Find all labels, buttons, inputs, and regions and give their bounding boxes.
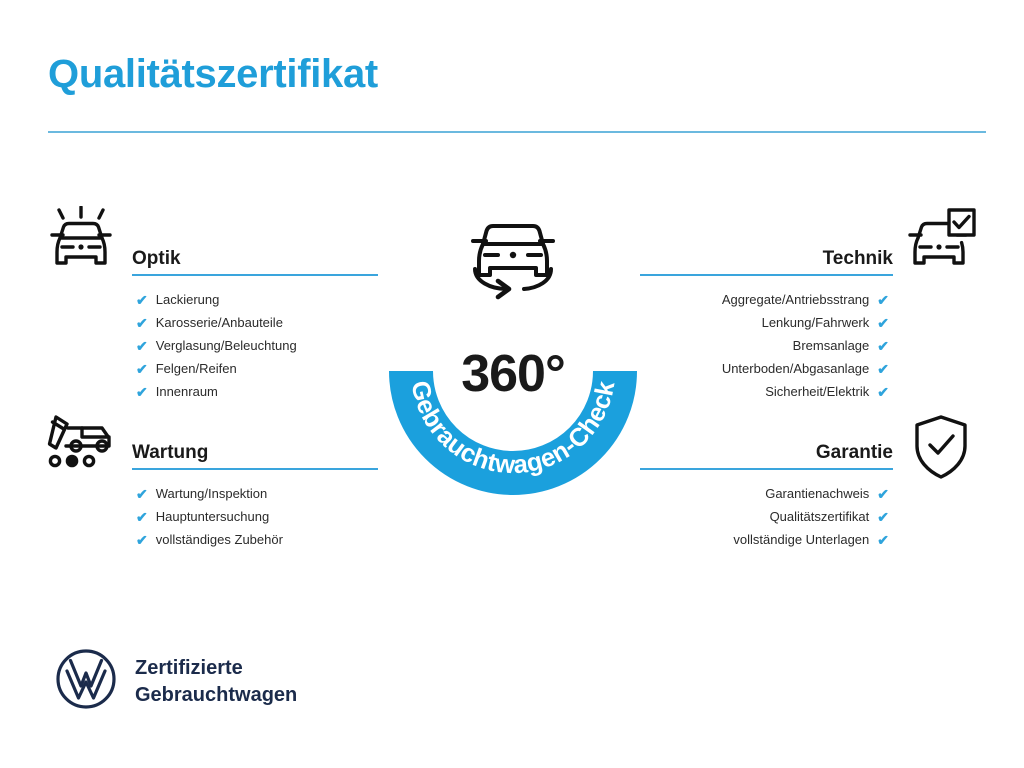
check-icon: ✔ <box>877 487 889 501</box>
list-item-label: Aggregate/Antriebsstrang <box>722 288 869 311</box>
list-item-label: Wartung/Inspektion <box>156 482 268 505</box>
brand-line-2: Gebrauchtwagen <box>135 682 297 709</box>
list-item: ✔Felgen/Reifen <box>132 357 378 380</box>
list-item: ✔Verglasung/Beleuchtung <box>132 334 378 357</box>
list-item: Unterboden/Abgasanlage✔ <box>640 357 893 380</box>
checklist-optik: ✔Lackierung ✔Karosserie/Anbauteile ✔Verg… <box>132 288 378 403</box>
list-item-label: Hauptuntersuchung <box>156 505 269 528</box>
check-icon: ✔ <box>877 316 889 330</box>
check-icon: ✔ <box>136 316 148 330</box>
section-technik: Technik Aggregate/Antriebsstrang✔ Lenkun… <box>640 238 893 403</box>
list-item: Garantienachweis✔ <box>640 482 893 505</box>
section-title-garantie: Garantie <box>816 442 893 464</box>
list-item: ✔Karosserie/Anbauteile <box>132 311 378 334</box>
checklist-wartung: ✔Wartung/Inspektion ✔Hauptuntersuchung ✔… <box>132 482 378 551</box>
list-item: Bremsanlage✔ <box>640 334 893 357</box>
list-item-label: vollständiges Zubehör <box>156 528 283 551</box>
list-item: Sicherheit/Elektrik✔ <box>640 380 893 403</box>
title-divider <box>48 131 986 133</box>
list-item-label: Innenraum <box>156 380 218 403</box>
list-item: ✔Innenraum <box>132 380 378 403</box>
section-title-technik: Technik <box>823 248 893 270</box>
list-item: ✔Wartung/Inspektion <box>132 482 378 505</box>
car-shine-icon <box>46 206 116 277</box>
list-item-label: vollständige Unterlagen <box>733 528 869 551</box>
check-icon: ✔ <box>877 533 889 547</box>
section-underline-wartung <box>132 468 378 470</box>
check-icon: ✔ <box>136 487 148 501</box>
list-item: vollständige Unterlagen✔ <box>640 528 893 551</box>
list-item-label: Lackierung <box>156 288 220 311</box>
certificate-page: Qualitätszertifikat <box>0 0 1024 768</box>
section-wartung: Wartung ✔Wartung/Inspektion ✔Hauptunters… <box>132 432 378 551</box>
list-item-label: Karosserie/Anbauteile <box>156 311 283 334</box>
list-item: Qualitätszertifikat✔ <box>640 505 893 528</box>
list-item: ✔Lackierung <box>132 288 378 311</box>
car-checkbox-icon <box>908 208 976 277</box>
list-item-label: Lenkung/Fahrwerk <box>762 311 870 334</box>
section-header-technik: Technik <box>640 238 893 276</box>
car-rotate-icon <box>473 226 553 297</box>
check-icon: ✔ <box>136 339 148 353</box>
list-item-label: Garantienachweis <box>765 482 869 505</box>
pen-car-service-icon <box>46 414 116 475</box>
check-icon: ✔ <box>136 362 148 376</box>
check-icon: ✔ <box>877 293 889 307</box>
check-icon: ✔ <box>136 510 148 524</box>
section-garantie: Garantie Garantienachweis✔ Qualitätszert… <box>640 432 893 551</box>
volkswagen-logo <box>55 648 117 715</box>
check-icon: ✔ <box>877 385 889 399</box>
check-icon: ✔ <box>136 533 148 547</box>
checklist-garantie: Garantienachweis✔ Qualitätszertifikat✔ v… <box>640 482 893 551</box>
list-item: ✔Hauptuntersuchung <box>132 505 378 528</box>
brand-line-1: Zertifizierte <box>135 655 297 682</box>
section-title-wartung: Wartung <box>132 442 208 464</box>
section-header-garantie: Garantie <box>640 432 893 470</box>
section-optik: Optik ✔Lackierung ✔Karosserie/Anbauteile… <box>132 238 378 403</box>
check-icon: ✔ <box>136 293 148 307</box>
list-item-label: Felgen/Reifen <box>156 357 237 380</box>
list-item: ✔vollständiges Zubehör <box>132 528 378 551</box>
list-item: Aggregate/Antriebsstrang✔ <box>640 288 893 311</box>
list-item-label: Sicherheit/Elektrik <box>765 380 869 403</box>
section-underline-garantie <box>640 468 893 470</box>
section-header-wartung: Wartung <box>132 432 378 470</box>
section-underline-optik <box>132 274 378 276</box>
footer-brand: Zertifizierte Gebrauchtwagen <box>55 648 297 715</box>
page-title: Qualitätszertifikat <box>48 52 378 97</box>
section-underline-technik <box>640 274 893 276</box>
badge-number: 360° <box>378 344 648 404</box>
list-item-label: Bremsanlage <box>793 334 870 357</box>
check-icon: ✔ <box>877 339 889 353</box>
check-icon: ✔ <box>877 510 889 524</box>
checklist-technik: Aggregate/Antriebsstrang✔ Lenkung/Fahrwe… <box>640 288 893 403</box>
section-header-optik: Optik <box>132 238 378 276</box>
check-icon: ✔ <box>877 362 889 376</box>
list-item-label: Qualitätszertifikat <box>770 505 870 528</box>
section-title-optik: Optik <box>132 248 181 270</box>
shield-check-icon <box>912 414 970 485</box>
brand-text: Zertifizierte Gebrauchtwagen <box>135 655 297 709</box>
list-item-label: Unterboden/Abgasanlage <box>722 357 869 380</box>
360-check-badge: Gebrauchtwagen-Check 360° <box>378 196 648 496</box>
list-item-label: Verglasung/Beleuchtung <box>156 334 297 357</box>
check-icon: ✔ <box>136 385 148 399</box>
list-item: Lenkung/Fahrwerk✔ <box>640 311 893 334</box>
